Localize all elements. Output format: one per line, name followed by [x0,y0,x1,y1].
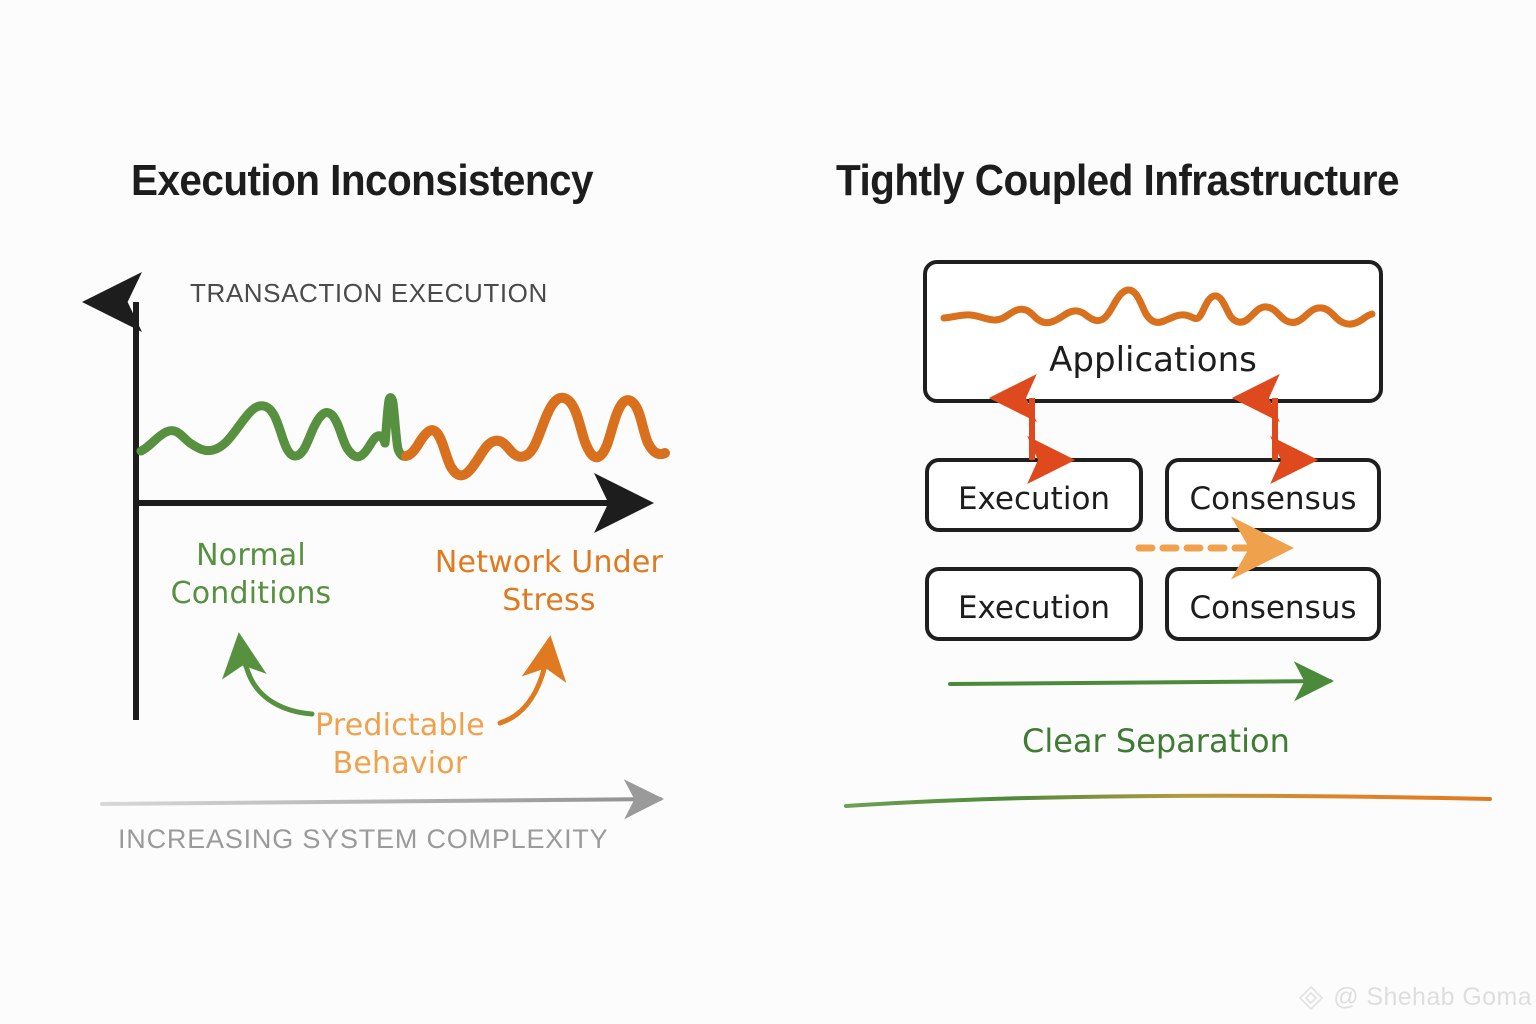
network-stress-waveform [406,398,665,476]
network-under-stress-label: Network Under Stress [424,544,674,621]
increasing-system-complexity-label: INCREASING SYSTEM COMPLEXITY [118,824,608,855]
normal-conditions-spike [385,398,406,457]
transaction-execution-caption: TRANSACTION EXECUTION [190,278,548,309]
execution-box-bottom-label: Execution [929,590,1139,626]
normal-conditions-label: Normal Conditions [166,537,336,614]
consensus-box-bottom[interactable]: Consensus [1165,567,1381,641]
predictable-behavior-label: Predictable Behavior [305,707,495,784]
applications-box[interactable]: Applications [923,260,1383,403]
consensus-box-top[interactable]: Consensus [1165,458,1381,532]
execution-box-top[interactable]: Execution [925,458,1143,532]
consensus-box-top-label: Consensus [1169,481,1377,517]
increasing-complexity-arrow-icon [102,799,660,804]
applications-box-label: Applications [927,340,1379,380]
consensus-box-bottom-label: Consensus [1169,590,1377,626]
clear-separation-arrow-icon [950,681,1330,684]
stress-pointer-curved-arrow-icon [500,645,549,723]
watermark-text: @ Shehab Goma [1333,983,1532,1012]
gradient-underline-icon [846,796,1490,806]
diagram-canvas: Execution Inconsistency Tightly Coupled … [0,0,1536,1024]
left-panel-title: Execution Inconsistency [131,156,593,206]
execution-box-top-label: Execution [929,481,1139,517]
watermark: @ Shehab Goma [1298,983,1532,1012]
diamond-logo-icon [1298,985,1324,1011]
normal-pointer-curved-arrow-icon [240,642,312,714]
execution-box-bottom[interactable]: Execution [925,567,1143,641]
clear-separation-label: Clear Separation [1022,722,1290,760]
normal-conditions-waveform [141,406,385,457]
right-panel-title: Tightly Coupled Infrastructure [836,156,1399,206]
